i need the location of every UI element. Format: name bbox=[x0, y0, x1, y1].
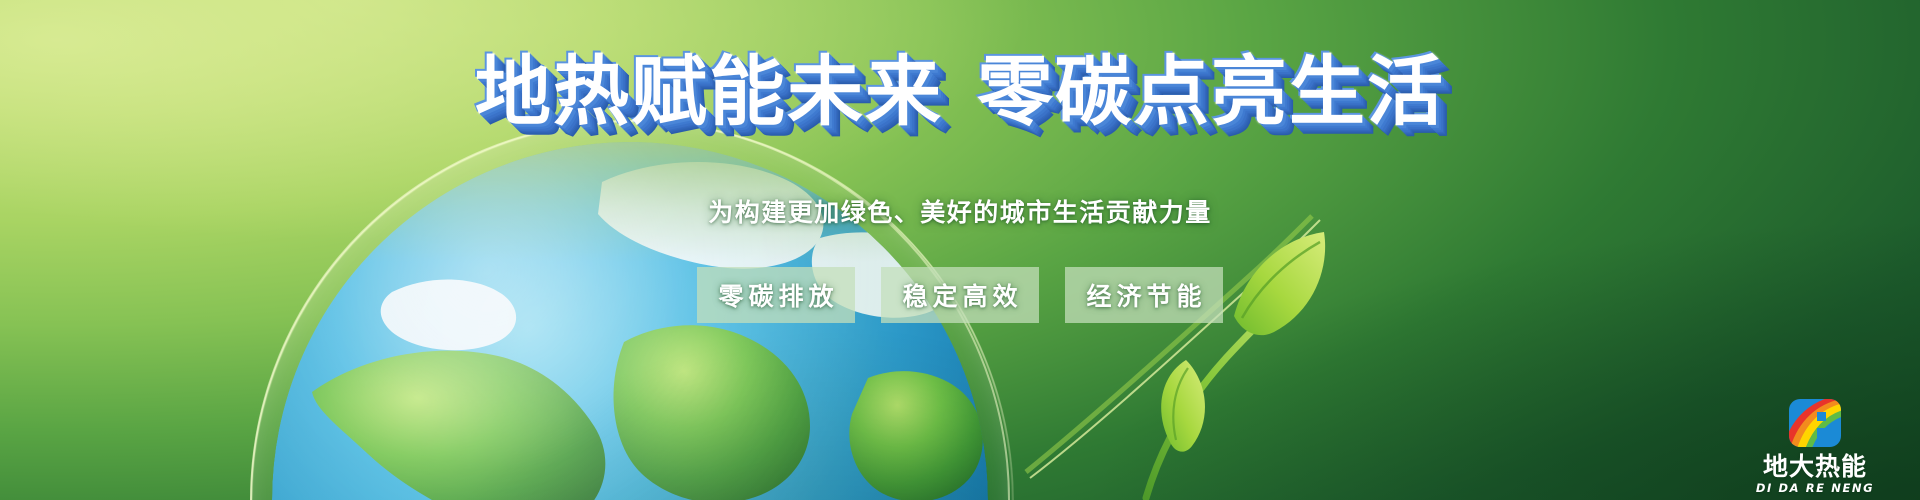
headline-part-1: 地热赋能未来 bbox=[475, 47, 943, 136]
brand-name-cn: 地大热能 bbox=[1763, 454, 1867, 479]
page-subtitle: 为构建更加绿色、美好的城市生活贡献力量 bbox=[0, 200, 1920, 225]
page-title: 地热赋能未来零碳点亮生活 bbox=[0, 54, 1920, 130]
feature-badge-zero-carbon[interactable]: 零碳排放 bbox=[697, 267, 855, 323]
feature-badge-stable-efficient[interactable]: 稳定高效 bbox=[881, 267, 1039, 323]
feature-badge-list: 零碳排放 稳定高效 经济节能 bbox=[0, 267, 1920, 323]
feature-badge-economic-saving[interactable]: 经济节能 bbox=[1065, 267, 1223, 323]
headline-part-2: 零碳点亮生活 bbox=[977, 47, 1445, 136]
hero-banner: 地热赋能未来零碳点亮生活 为构建更加绿色、美好的城市生活贡献力量 零碳排放 稳定… bbox=[0, 0, 1920, 500]
rainbow-arc-rounded-square-icon bbox=[1787, 398, 1843, 450]
brand-name-en: DI DA RE NENG bbox=[1756, 483, 1874, 495]
brand-logo[interactable]: 地大热能 DI DA RE NENG bbox=[1756, 398, 1874, 495]
